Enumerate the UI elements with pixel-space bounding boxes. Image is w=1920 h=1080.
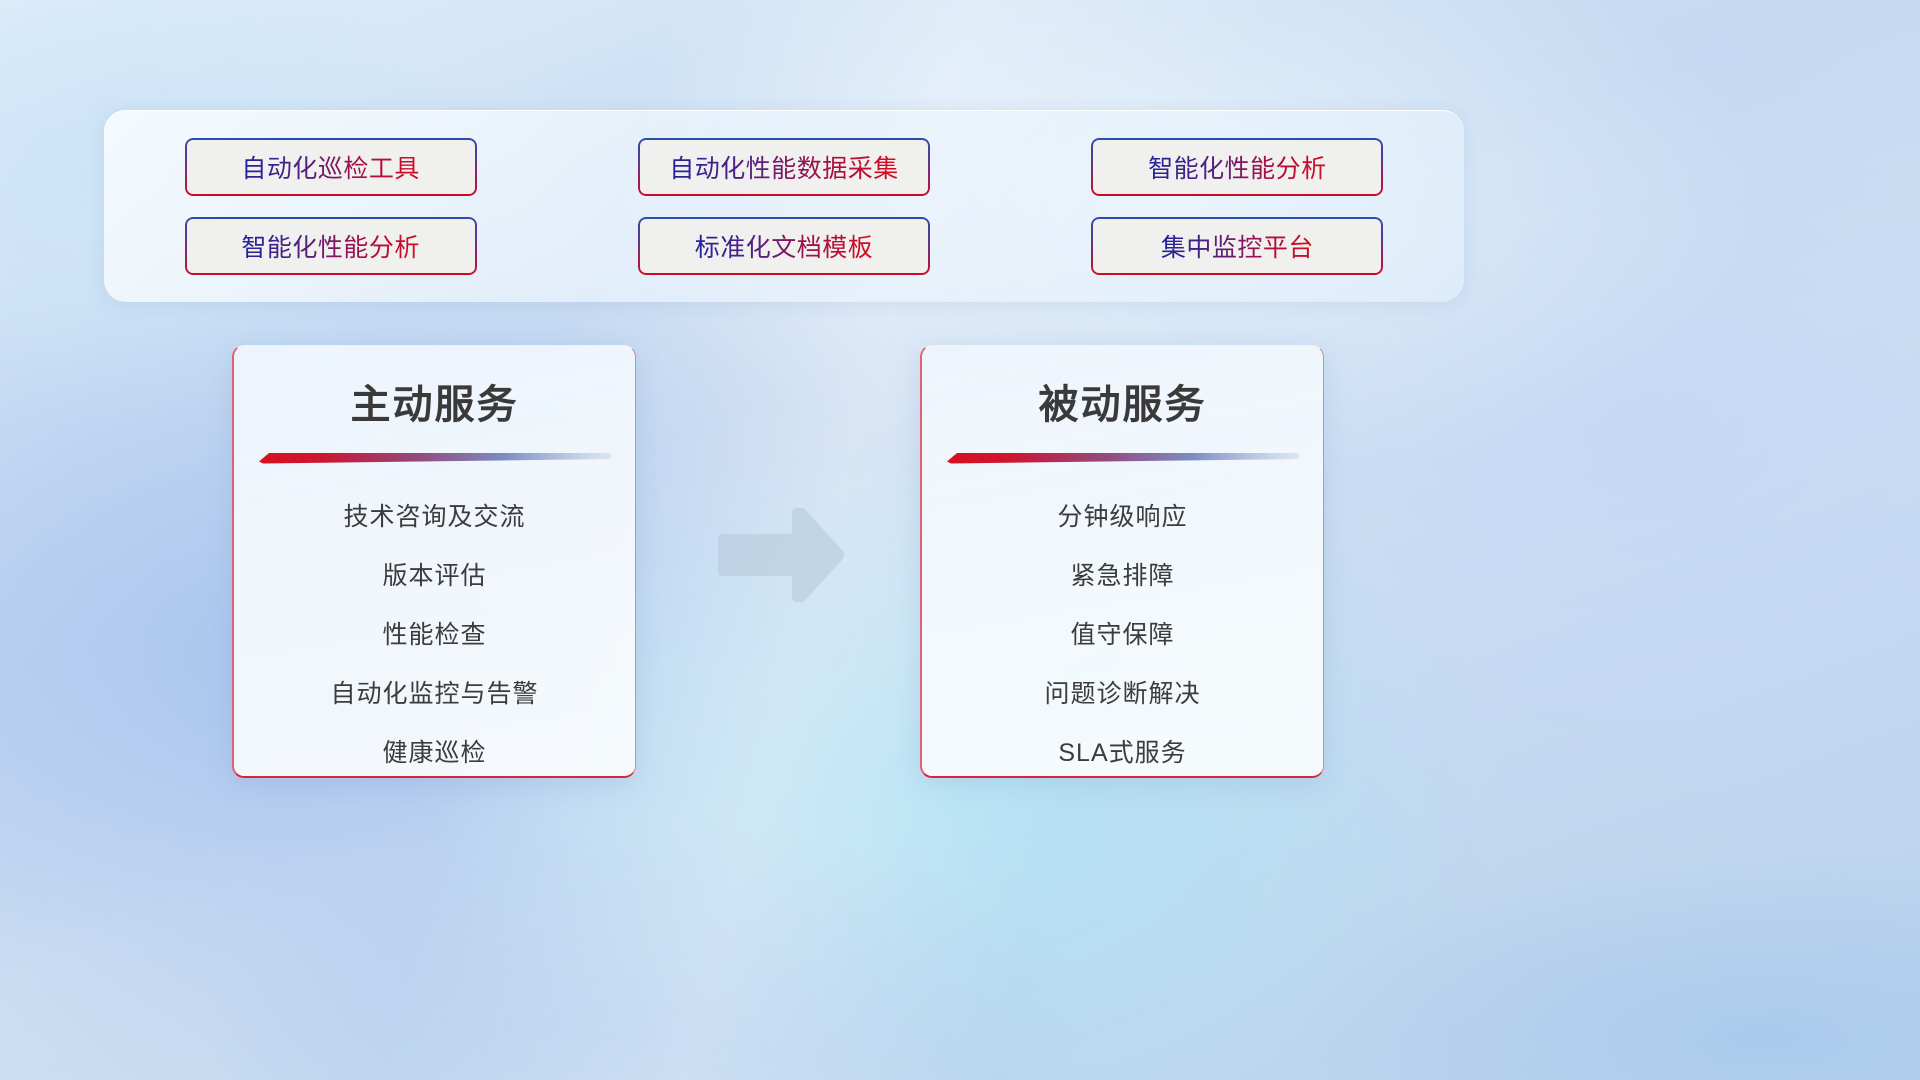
chip-label: 集中监控平台 [1161,228,1314,264]
chip-intelligent-performance-analysis-bottom[interactable]: 智能化性能分析 [185,217,477,275]
list-item[interactable]: 版本评估 [234,547,635,606]
service-card-reactive[interactable]: 被动服务 分钟级响应 紧急排障 值守保障 问题诊断解决 [920,345,1324,778]
list-item[interactable]: 健康巡检 [234,724,635,778]
service-card-proactive[interactable]: 主动服务 技术咨询及交流 版本评估 性能检查 自动化监控与告警 [232,345,636,778]
list-item[interactable]: 问题诊断解决 [922,665,1323,724]
card-divider [259,452,611,464]
chip-standardized-document-template[interactable]: 标准化文档模板 [638,217,930,275]
list-item[interactable]: 技术咨询及交流 [234,488,635,547]
chip-centralized-monitoring-platform[interactable]: 集中监控平台 [1091,217,1383,275]
card-title: 主动服务 [234,372,635,430]
chip-label: 智能化性能分析 [241,228,420,264]
chip-row-1: 自动化巡检工具 自动化性能数据采集 智能化性能分析 [104,138,1464,196]
list-item[interactable]: 分钟级响应 [922,488,1323,547]
card-title: 被动服务 [922,372,1323,430]
chip-label: 自动化性能数据采集 [669,149,899,185]
list-item[interactable]: 性能检查 [234,606,635,665]
card-item-list: 分钟级响应 紧急排障 值守保障 问题诊断解决 SLA式服务 [922,488,1323,778]
chip-label: 自动化巡检工具 [241,149,420,185]
list-item[interactable]: 自动化监控与告警 [234,665,635,724]
flow-arrow [718,508,848,602]
right-arrow-icon [718,508,848,602]
chip-row-2: 智能化性能分析 标准化文档模板 集中监控平台 [104,217,1464,275]
capability-chips-panel: 自动化巡检工具 自动化性能数据采集 智能化性能分析 智能化性能分析 标准化文档模… [104,110,1464,302]
card-divider [947,452,1299,464]
chip-label: 标准化文档模板 [695,228,874,264]
diagram-stage: 自动化巡检工具 自动化性能数据采集 智能化性能分析 智能化性能分析 标准化文档模… [0,0,1920,1080]
divider-gradient-bar [947,452,1299,464]
list-item[interactable]: 值守保障 [922,606,1323,665]
chip-automated-performance-data-collection[interactable]: 自动化性能数据采集 [638,138,930,196]
chip-label: 智能化性能分析 [1148,149,1327,185]
card-item-list: 技术咨询及交流 版本评估 性能检查 自动化监控与告警 健康巡检 [234,488,635,778]
chip-automation-inspection-tool[interactable]: 自动化巡检工具 [185,138,477,196]
chip-intelligent-performance-analysis-top[interactable]: 智能化性能分析 [1091,138,1383,196]
list-item[interactable]: SLA式服务 [922,724,1323,778]
divider-gradient-bar [259,452,611,464]
list-item[interactable]: 紧急排障 [922,547,1323,606]
